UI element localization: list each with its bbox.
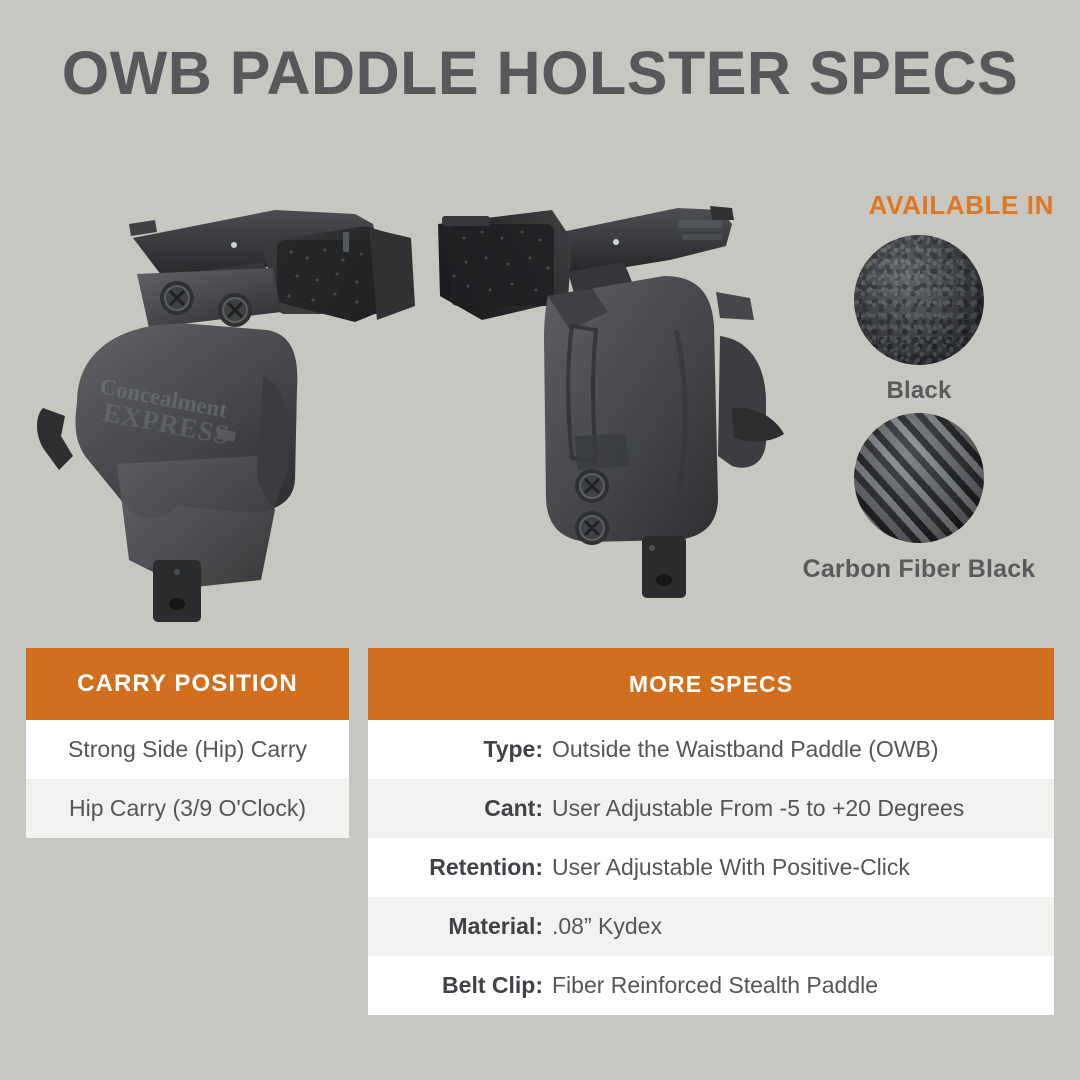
retention-screw — [575, 511, 609, 545]
color-option-label: Carbon Fiber Black — [784, 555, 1054, 584]
spec-label: Cant: — [368, 795, 552, 822]
retention-screw — [218, 293, 252, 327]
available-in-panel: AVAILABLE IN Black Carbon Fiber Black — [784, 190, 1054, 592]
color-option-label: Black — [784, 377, 1054, 405]
table-row: Cant: User Adjustable From -5 to +20 Deg… — [368, 779, 1054, 838]
holster-body-side-svg — [420, 180, 820, 630]
table-row: Strong Side (Hip) Carry — [26, 720, 349, 779]
carry-position-value: Hip Carry (3/9 O'Clock) — [69, 795, 306, 822]
carry-position-value: Strong Side (Hip) Carry — [68, 736, 307, 763]
table-row: Type: Outside the Waistband Paddle (OWB) — [368, 720, 1054, 779]
table-row: Material: .08” Kydex — [368, 897, 1054, 956]
carbon-fiber-swatch-icon[interactable] — [854, 413, 984, 543]
table-row: Hip Carry (3/9 O'Clock) — [26, 779, 349, 838]
table-row: Belt Clip: Fiber Reinforced Stealth Padd… — [368, 956, 1054, 1015]
spec-label: Belt Clip: — [368, 972, 552, 999]
page-title: OWB PADDLE HOLSTER SPECS — [0, 42, 1080, 105]
spec-label: Type: — [368, 736, 552, 763]
spec-value: User Adjustable From -5 to +20 Degrees — [552, 795, 1054, 822]
carry-position-table-header: CARRY POSITION — [26, 648, 349, 720]
available-in-heading: AVAILABLE IN — [784, 190, 1054, 221]
color-option-carbon-fiber-black[interactable]: Carbon Fiber Black — [784, 413, 1054, 584]
spec-value: User Adjustable With Positive-Click — [552, 854, 1054, 881]
spec-label: Retention: — [368, 854, 552, 881]
black-swatch-icon[interactable] — [854, 235, 984, 365]
table-row: Retention: User Adjustable With Positive… — [368, 838, 1054, 897]
spec-label: Material: — [368, 913, 552, 940]
spec-value: Outside the Waistband Paddle (OWB) — [552, 736, 1054, 763]
retention-screw — [575, 469, 609, 503]
holster-paddle-side-svg: Concealment EXPRESS — [25, 180, 425, 630]
spec-value: .08” Kydex — [552, 913, 1054, 940]
color-option-black[interactable]: Black — [784, 235, 1054, 405]
holster-image-body-side — [420, 180, 820, 630]
more-specs-table-header: MORE SPECS — [368, 648, 1054, 720]
retention-screw — [160, 281, 194, 315]
more-specs-table: MORE SPECS Type: Outside the Waistband P… — [368, 648, 1054, 1015]
spec-value: Fiber Reinforced Stealth Paddle — [552, 972, 1054, 999]
product-photo-group: Concealment EXPRESS — [0, 180, 840, 630]
carry-position-table: CARRY POSITION Strong Side (Hip) Carry H… — [26, 648, 349, 838]
holster-image-paddle-side: Concealment EXPRESS — [25, 180, 425, 630]
